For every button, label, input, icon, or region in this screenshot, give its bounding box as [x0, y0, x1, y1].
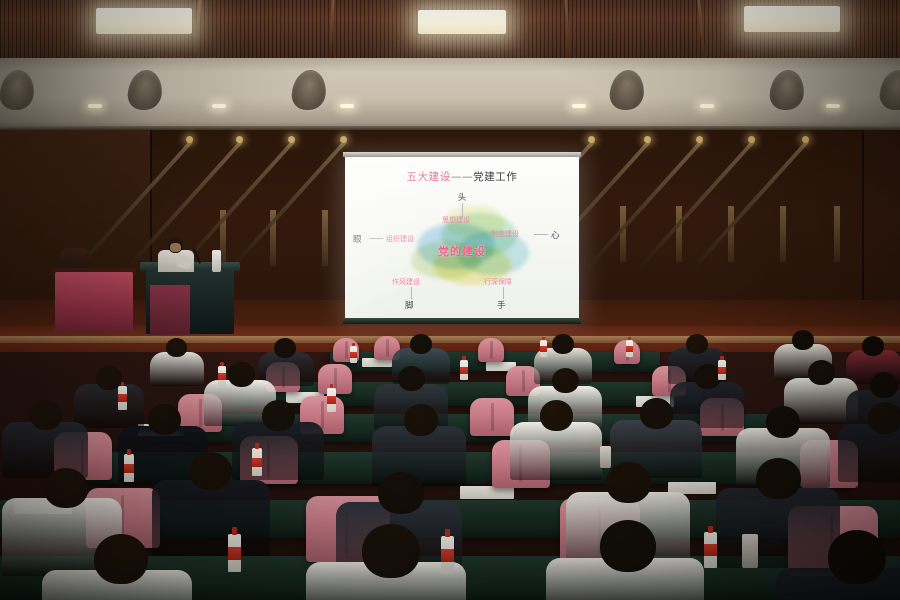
soffit-downlight	[700, 104, 714, 108]
stage-spot-light	[644, 136, 651, 143]
stage-decor-post	[620, 206, 626, 262]
ceiling-light-panel	[744, 6, 840, 32]
water-bottle	[460, 360, 468, 380]
water-bottle	[228, 534, 241, 572]
water-bottle	[441, 536, 454, 574]
water-bottle	[350, 346, 357, 363]
person-head	[792, 330, 814, 350]
person-head	[606, 462, 651, 503]
stage-decor-post	[780, 206, 786, 262]
person-head	[694, 364, 721, 389]
person-head	[868, 402, 900, 434]
water-bottle	[252, 448, 262, 476]
soffit-downlight	[572, 104, 586, 108]
person-head	[404, 404, 438, 436]
stage-decor-post	[676, 206, 682, 262]
person-torso	[152, 480, 270, 556]
water-bottle	[118, 386, 127, 410]
person-head	[410, 334, 432, 354]
person-head	[148, 404, 181, 435]
ceiling-light-panel	[418, 10, 506, 34]
person-head	[828, 530, 886, 584]
ceiling-light-panel	[96, 8, 192, 34]
red-draped-table	[55, 272, 133, 332]
person-head	[228, 362, 255, 387]
person-torso	[74, 384, 144, 428]
audience-chair	[478, 338, 504, 362]
person-head	[766, 406, 800, 438]
person-head	[756, 458, 801, 499]
person-head	[552, 368, 579, 393]
stage-front-trim	[0, 336, 900, 343]
soffit-downlight	[212, 104, 226, 108]
water-bottle	[540, 340, 547, 357]
projection-screen: 五大建设——党建工作 头 思想建设 眼 组织建设 制度建设 心 作风建设 脚 行…	[345, 157, 579, 318]
stage-spot-light	[186, 136, 193, 143]
person-head	[190, 452, 232, 490]
stage-spot-light	[588, 136, 595, 143]
person-torso	[150, 352, 204, 386]
soffit-downlight	[340, 104, 354, 108]
person-torso	[716, 488, 840, 568]
stage-spot-light	[236, 136, 243, 143]
person-head	[540, 400, 573, 431]
person-head	[808, 360, 835, 385]
water-bottle	[718, 360, 726, 380]
stage-spot-light	[802, 136, 809, 143]
thermos-cup	[742, 534, 758, 568]
water-bottle	[124, 454, 134, 482]
stage-spot-light	[288, 136, 295, 143]
person-head	[686, 334, 708, 354]
water-bottle	[626, 340, 633, 357]
stage-spot-light	[748, 136, 755, 143]
person-head	[30, 400, 62, 430]
soffit-downlight	[88, 104, 102, 108]
person-head	[600, 520, 656, 572]
person-head	[552, 334, 574, 354]
person-head	[398, 366, 425, 391]
person-head	[44, 468, 88, 508]
person-head	[274, 338, 296, 358]
screen-glare	[345, 157, 579, 318]
person-head	[166, 338, 187, 357]
water-bottle	[327, 388, 336, 412]
person-head	[94, 534, 148, 584]
stage-decor-post	[322, 210, 328, 266]
stage-spot-light	[340, 136, 347, 143]
stage-spot-light	[696, 136, 703, 143]
person-head	[862, 336, 884, 356]
person-head	[640, 398, 673, 429]
soffit-downlight	[826, 104, 840, 108]
stage-decor-post	[834, 206, 840, 262]
person-head	[362, 524, 420, 578]
stage-decor-post	[728, 206, 734, 262]
podium-water-bottle	[212, 250, 221, 272]
audience-chair	[470, 398, 514, 436]
person-head	[378, 472, 424, 514]
person-head	[262, 400, 295, 431]
presenter-face	[170, 243, 181, 252]
screen-bottom-bar	[343, 318, 581, 324]
thermos-cup	[600, 446, 611, 468]
water-bottle	[218, 366, 226, 386]
person-head	[870, 372, 898, 398]
conference-hall-photo: 五大建设——党建工作 头 思想建设 眼 组织建设 制度建设 心 作风建设 脚 行…	[0, 0, 900, 600]
water-bottle	[704, 532, 717, 568]
podium-skirt	[150, 285, 190, 335]
